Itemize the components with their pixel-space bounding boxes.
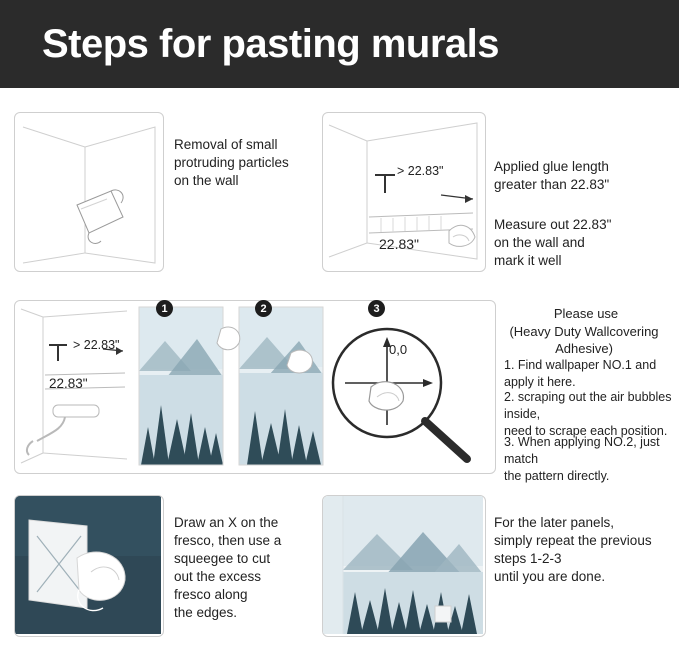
step-5-caption: For the later panels, simply repeat the … [494,514,679,586]
origin-label: 0,0 [389,341,407,358]
step-4-illustration [14,495,164,637]
wall-corner-drawing [15,113,161,269]
step-2-measure-label: 22.83" [379,235,419,253]
cut-x-drawing [15,496,161,634]
step-3-measure-label: 22.83" [49,375,88,393]
step-3-arrow-label: > 22.83" [73,337,120,354]
adhesive-label: (Heavy Duty Wallcovering Adhesive) [486,323,679,357]
step-5-illustration [322,495,486,637]
step-2-caption-top: Applied glue length greater than 22.83" [494,158,670,194]
badge-3: 3 [368,300,385,317]
badge-1: 1 [156,300,173,317]
step-2-illustration: > 22.83" 22.83" [322,112,486,272]
step-4-caption: Draw an X on the fresco, then use a sque… [174,514,334,622]
badge-2: 2 [255,300,272,317]
please-use-label: Please use [496,305,676,322]
page-title: Steps for pasting murals [42,22,499,67]
step-3-note-2: 2. scraping out the air bubbles inside, … [504,389,679,440]
step-1-illustration [14,112,164,272]
step-3-illustration: > 22.83" 22.83" 0,0 [14,300,496,474]
step-3-note-1: 1. Find wallpaper NO.1 and apply it here… [504,357,679,391]
step-2-arrow-label: > 22.83" [397,163,444,180]
page-header: Steps for pasting murals [0,0,679,88]
finished-mural-drawing [323,496,483,634]
step-1-caption: Removal of small protruding particles on… [174,136,324,190]
step-3-note-3: 3. When applying NO.2, just match the pa… [504,434,679,485]
step-2-caption-bottom: Measure out 22.83" on the wall and mark … [494,216,670,270]
